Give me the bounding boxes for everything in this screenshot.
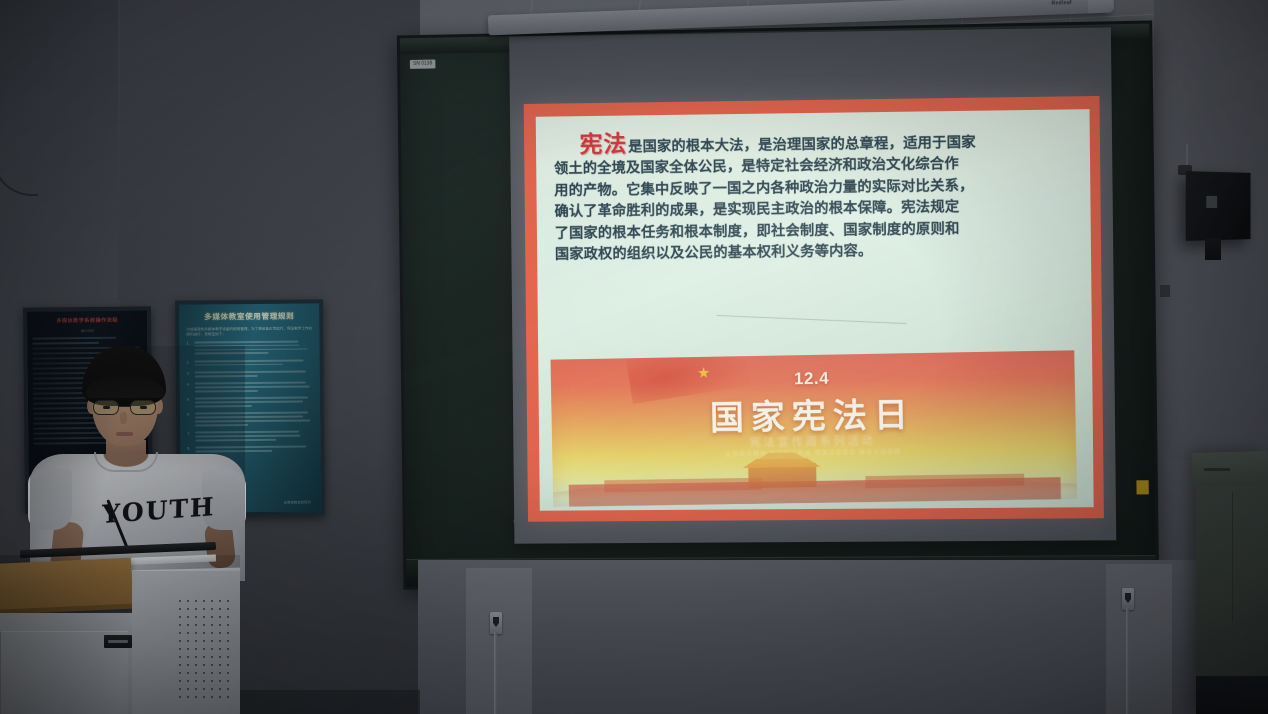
classroom-photo: SN 0138 宪法是国家的根本大法，是治理国家的总章程，适用于国家 领土的全境…	[0, 0, 1268, 714]
fixture-pipe	[1126, 608, 1129, 714]
blackboard-label: SN 0138	[410, 59, 436, 68]
glasses-bridge	[119, 406, 131, 407]
slide-line-6: 国家政权的组织以及公民的基本权利义务等内容。	[553, 239, 1075, 266]
grille-hole	[195, 688, 197, 690]
grille-hole	[203, 608, 205, 610]
projection-screen: 宪法是国家的根本大法，是治理国家的总章程，适用于国家 领土的全境及国家全体公民，…	[509, 27, 1116, 543]
grille-hole	[187, 648, 189, 650]
speaker-lower-mount	[1205, 238, 1221, 260]
presentation-slide: 宪法是国家的根本大法，是治理国家的总章程，适用于国家 领土的全境及国家全体公民，…	[524, 96, 1104, 522]
grille-hole	[203, 664, 205, 666]
grille-hole	[211, 696, 213, 698]
grille-hole	[211, 672, 213, 674]
constitution-day-banner: 12.4 国家宪法日 宪法宣传周系列活动 弘扬宪法精神 树立宪法权威 增强法治观…	[550, 350, 1077, 507]
grille-hole	[187, 656, 189, 658]
grille-hole	[203, 648, 205, 650]
grille-hole	[211, 688, 213, 690]
grille-hole	[203, 672, 205, 674]
grille-hole	[187, 640, 189, 642]
rule-text-line	[194, 340, 298, 343]
grille-hole	[211, 632, 213, 634]
grille-hole	[227, 696, 229, 698]
grille-hole	[195, 640, 197, 642]
grille-hole	[227, 688, 229, 690]
wall-bracket-small	[1160, 285, 1170, 297]
slide-content: 宪法是国家的根本大法，是治理国家的总章程，适用于国家 领土的全境及国家全体公民，…	[536, 109, 1094, 511]
wall-panel	[466, 568, 532, 714]
grille-hole	[187, 696, 189, 698]
poster-left-subtitle: 操作说明	[32, 327, 142, 333]
teaching-podium	[0, 555, 240, 714]
grille-hole	[187, 672, 189, 674]
grille-hole	[187, 632, 189, 634]
grille-hole	[195, 696, 197, 698]
poster-right-intro: 为加强我校多媒体教学设备的使用管理，为了使设备正常运行，保证教学工作的顺利进行，…	[186, 326, 312, 338]
grille-hole	[227, 648, 229, 650]
grille-hole	[227, 672, 229, 674]
poster-text-line	[32, 337, 116, 340]
wall-seam	[118, 0, 120, 300]
grille-hole	[211, 648, 213, 650]
grille-hole	[187, 616, 189, 618]
grille-hole	[227, 624, 229, 626]
grille-hole	[187, 688, 189, 690]
fixture-pipe	[494, 632, 497, 714]
grille-hole	[219, 696, 221, 698]
speaker-grille	[178, 599, 236, 703]
grille-hole	[179, 648, 181, 650]
grille-hole	[195, 632, 197, 634]
grille-hole	[187, 664, 189, 666]
grille-hole	[219, 656, 221, 658]
grille-hole	[219, 672, 221, 674]
grille-hole	[195, 624, 197, 626]
grille-hole	[211, 608, 213, 610]
eye-left	[103, 406, 110, 409]
poster-right-title: 多媒体教室使用管理规则	[186, 310, 312, 322]
tiananmen-silhouette	[552, 441, 1077, 507]
slide-keyword: 宪法	[579, 130, 627, 157]
grille-hole	[227, 680, 229, 682]
grille-hole	[219, 608, 221, 610]
grille-hole	[179, 688, 181, 690]
podium-nameplate	[104, 635, 132, 648]
grille-hole	[179, 664, 181, 666]
shirt-collar-rim	[94, 452, 158, 472]
grille-hole	[195, 672, 197, 674]
wall-panel	[1106, 564, 1172, 714]
poster-text-line	[32, 342, 99, 345]
grille-hole	[203, 640, 205, 642]
grille-hole	[219, 616, 221, 618]
grille-hole	[203, 600, 205, 602]
grille-hole	[227, 600, 229, 602]
grille-hole	[219, 648, 221, 650]
mouth	[116, 432, 133, 436]
grille-hole	[211, 680, 213, 682]
grille-hole	[219, 664, 221, 666]
poster-right-footer: 多媒体教室管理员	[284, 499, 311, 504]
poster-left-title: 多媒体教学系统操作流程	[32, 316, 142, 325]
grille-hole	[187, 624, 189, 626]
lower-wall	[418, 560, 1268, 714]
grille-hole	[179, 608, 181, 610]
eye-right	[140, 406, 147, 409]
grille-hole	[211, 664, 213, 666]
grille-hole	[227, 664, 229, 666]
hair-fringe	[86, 376, 164, 398]
grille-hole	[179, 672, 181, 674]
roller-end-cap	[1087, 0, 1114, 13]
grille-hole	[179, 624, 181, 626]
wall-fixture	[490, 612, 502, 634]
grille-hole	[227, 616, 229, 618]
grille-hole	[179, 616, 181, 618]
desk-floor-shadow	[1196, 676, 1268, 714]
gate-roof-upper	[753, 452, 811, 460]
grille-hole	[211, 616, 213, 618]
slide-line-1: 是国家的根本大法，是治理国家的总章程，适用于国家	[628, 135, 976, 156]
grille-hole	[179, 696, 181, 698]
blackboard-corner-tag	[1136, 480, 1148, 494]
desk-drawer-groove	[1204, 468, 1230, 471]
grille-hole	[187, 600, 189, 602]
grille-hole	[203, 624, 205, 626]
grille-hole	[219, 624, 221, 626]
grille-hole	[203, 656, 205, 658]
wall-fixture	[1122, 588, 1134, 610]
grille-hole	[219, 640, 221, 642]
grille-hole	[211, 656, 213, 658]
grille-hole	[195, 656, 197, 658]
screen-crease	[717, 315, 907, 324]
grille-hole	[211, 624, 213, 626]
grille-hole	[179, 640, 181, 642]
grille-hole	[227, 608, 229, 610]
grille-hole	[195, 616, 197, 618]
grille-hole	[179, 632, 181, 634]
wall-mounted-speaker	[1186, 171, 1251, 241]
grille-hole	[211, 640, 213, 642]
sleeve-left	[28, 468, 72, 530]
grille-hole	[219, 600, 221, 602]
grille-hole	[219, 688, 221, 690]
desk-panel-line	[1232, 492, 1233, 622]
grille-hole	[203, 696, 205, 698]
grille-hole	[227, 632, 229, 634]
grille-hole	[195, 680, 197, 682]
grille-hole	[211, 600, 213, 602]
grille-hole	[203, 616, 205, 618]
speaker-highlight	[1206, 196, 1217, 208]
grille-hole	[179, 600, 181, 602]
grille-hole	[179, 656, 181, 658]
grille-hole	[203, 680, 205, 682]
grille-hole	[195, 648, 197, 650]
grille-hole	[187, 608, 189, 610]
grille-hole	[227, 656, 229, 658]
grille-hole	[203, 632, 205, 634]
grille-hole	[219, 680, 221, 682]
grille-hole	[195, 600, 197, 602]
grille-hole	[219, 632, 221, 634]
grille-hole	[203, 688, 205, 690]
screen-brand-label: Redleaf	[1052, 0, 1072, 7]
grille-hole	[227, 640, 229, 642]
slide-body-text: 宪法是国家的根本大法，是治理国家的总章程，适用于国家 领土的全境及国家全体公民，…	[552, 127, 1075, 266]
grille-hole	[187, 680, 189, 682]
grille-hole	[195, 608, 197, 610]
nose	[120, 412, 127, 424]
grille-hole	[179, 680, 181, 682]
grille-hole	[195, 664, 197, 666]
